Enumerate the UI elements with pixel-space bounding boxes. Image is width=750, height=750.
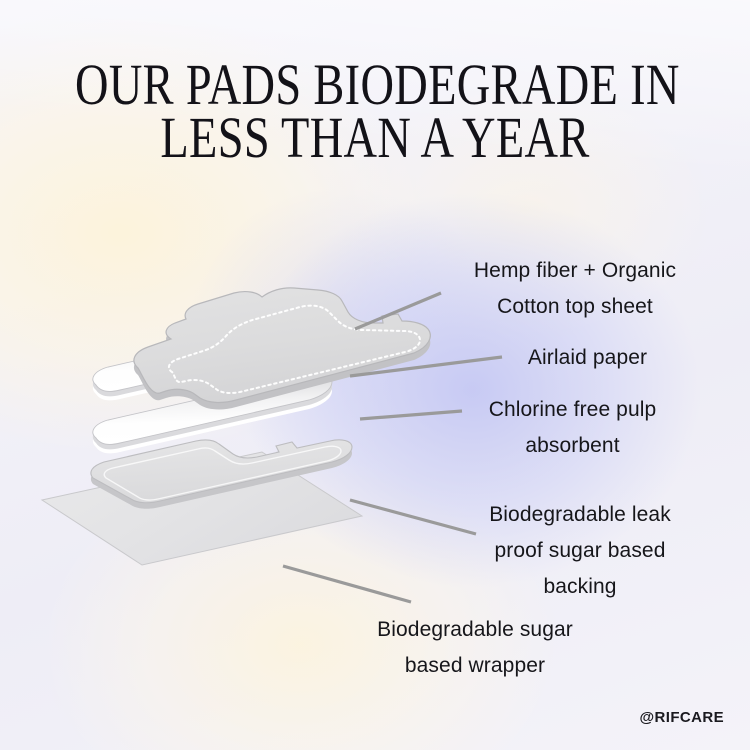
label-sugar-wrapper-line-2: based wrapper [330, 648, 620, 684]
label-top-sheet: Hemp fiber + Organic Cotton top sheet [440, 253, 710, 325]
label-pulp-absorbent: Chlorine free pulp absorbent [435, 392, 710, 464]
label-top-sheet-line-1: Hemp fiber + Organic [440, 253, 710, 289]
infographic-poster: OUR PADS BIODEGRADE IN LESS THAN A YEAR [0, 0, 750, 750]
label-airlaid-paper: Airlaid paper [455, 340, 720, 376]
leader-line-top-sheet [355, 293, 441, 329]
label-leak-proof-backing-line-3: backing [440, 569, 720, 605]
label-leak-proof-backing-line-2: proof sugar based [440, 533, 720, 569]
label-airlaid-paper-line-1: Airlaid paper [455, 340, 720, 376]
brand-watermark: @RIFCARE [640, 709, 725, 726]
label-pulp-absorbent-line-2: absorbent [435, 428, 710, 464]
label-sugar-wrapper-line-1: Biodegradable sugar [330, 612, 620, 648]
label-sugar-wrapper: Biodegradable sugar based wrapper [330, 612, 620, 684]
label-leak-proof-backing-line-1: Biodegradable leak [440, 497, 720, 533]
label-leak-proof-backing: Biodegradable leak proof sugar based bac… [440, 497, 720, 605]
leader-line-wrapper [283, 566, 411, 602]
label-pulp-absorbent-line-1: Chlorine free pulp [435, 392, 710, 428]
label-top-sheet-line-2: Cotton top sheet [440, 289, 710, 325]
